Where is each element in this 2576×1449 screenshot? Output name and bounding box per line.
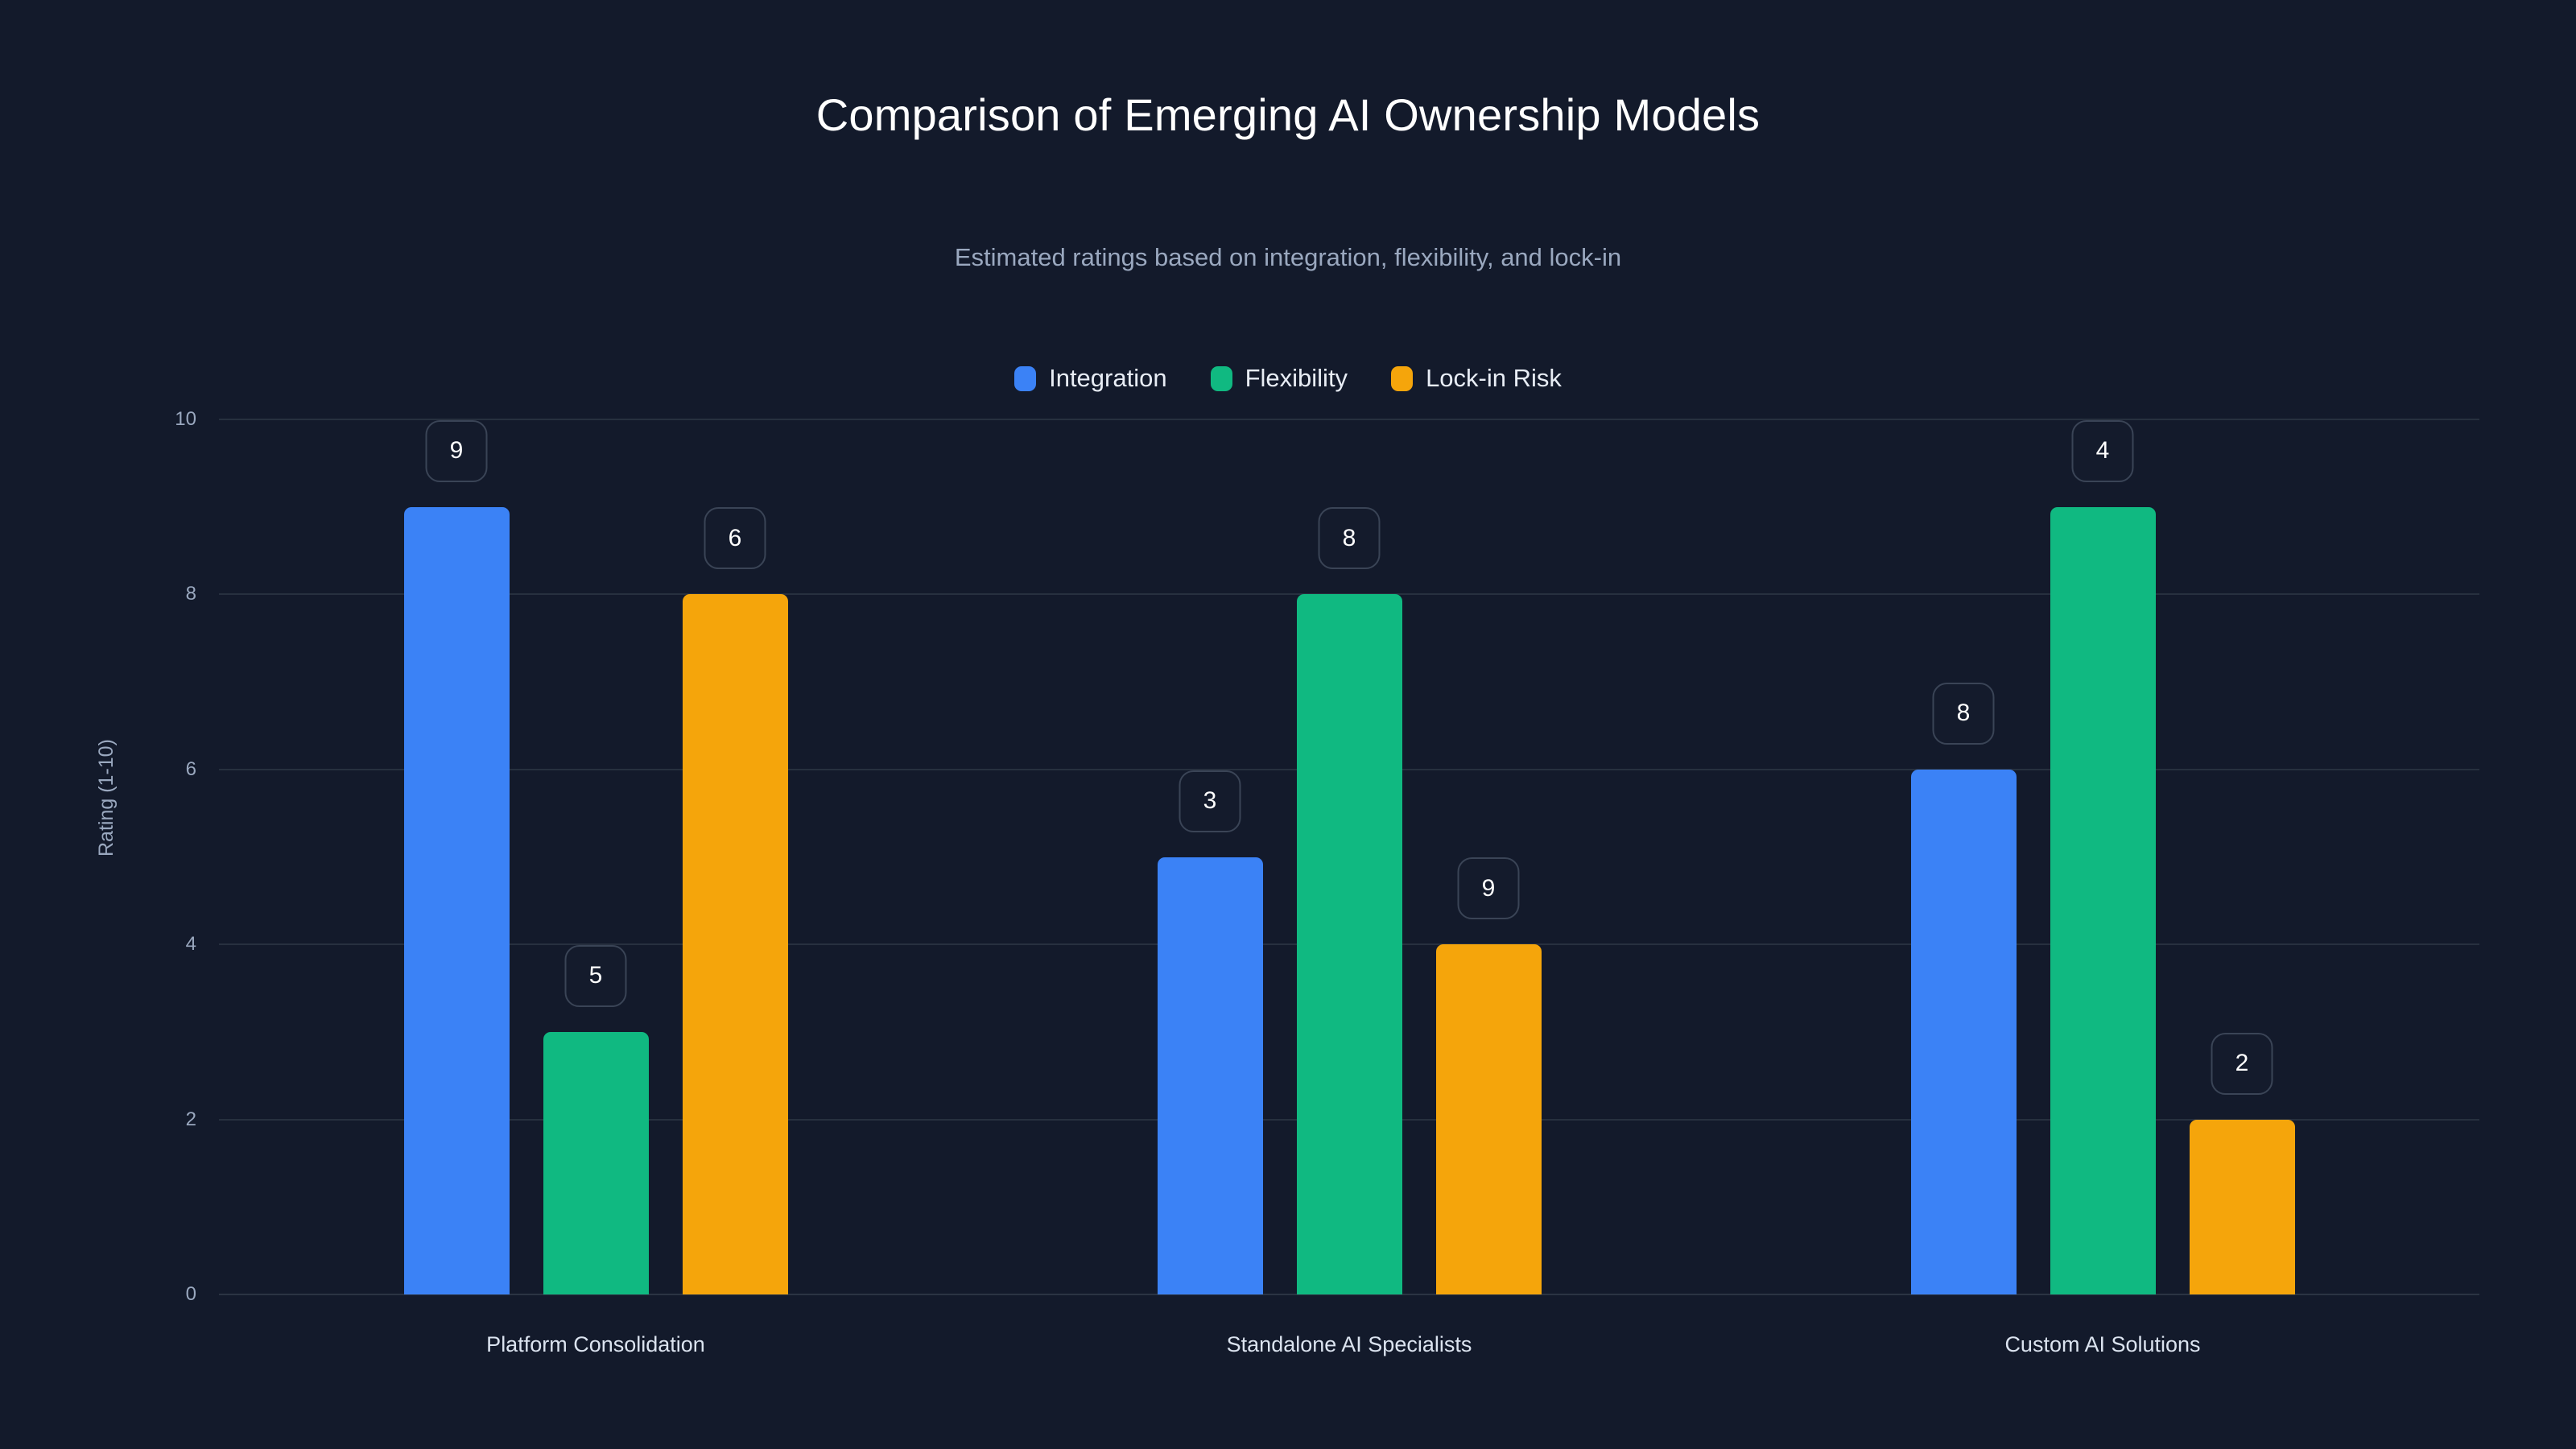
legend-label: Integration	[1049, 364, 1167, 393]
bar-value-badge: 9	[1458, 857, 1520, 919]
x-axis-category-label: Platform Consolidation	[486, 1332, 705, 1357]
bar[interactable]	[1911, 770, 2017, 1294]
bar[interactable]	[1297, 594, 1402, 1294]
legend-swatch-icon	[1211, 366, 1232, 391]
bar-value-badge: 8	[1933, 683, 1995, 745]
bar[interactable]	[2190, 1120, 2295, 1294]
y-axis-tick-label: 2	[124, 1108, 196, 1131]
bar[interactable]	[404, 507, 510, 1294]
legend-label: Lock-in Risk	[1426, 364, 1562, 393]
bar[interactable]	[1436, 944, 1542, 1294]
plot-area: 0246810956389842	[219, 419, 2479, 1294]
bar-value-badge: 8	[1319, 507, 1381, 569]
legend-swatch-icon	[1391, 366, 1413, 391]
bar[interactable]	[543, 1032, 649, 1294]
bar[interactable]	[2050, 507, 2156, 1294]
bar[interactable]	[1158, 857, 1263, 1295]
bar-value-badge: 4	[2072, 420, 2134, 482]
bar-value-badge: 3	[1179, 770, 1241, 832]
chart-subtitle: Estimated ratings based on integration, …	[0, 243, 2576, 272]
bar-value-badge: 5	[565, 945, 627, 1007]
y-axis-tick-label: 8	[124, 583, 196, 605]
legend-item[interactable]: Lock-in Risk	[1391, 364, 1562, 393]
legend-item[interactable]: Integration	[1014, 364, 1167, 393]
chart-legend: IntegrationFlexibilityLock-in Risk	[0, 364, 2576, 393]
legend-item[interactable]: Flexibility	[1211, 364, 1348, 393]
chart-title: Comparison of Emerging AI Ownership Mode…	[0, 89, 2576, 141]
bar-value-badge: 2	[2211, 1033, 2273, 1095]
legend-label: Flexibility	[1245, 364, 1348, 393]
gridline	[219, 419, 2479, 420]
legend-swatch-icon	[1014, 366, 1036, 391]
x-axis-category-label: Custom AI Solutions	[2004, 1332, 2200, 1357]
y-axis-tick-label: 4	[124, 933, 196, 956]
y-axis-tick-label: 6	[124, 758, 196, 781]
bar-value-badge: 9	[426, 420, 488, 482]
y-axis-tick-label: 10	[124, 408, 196, 431]
y-axis-tick-label: 0	[124, 1283, 196, 1306]
x-axis-category-label: Standalone AI Specialists	[1227, 1332, 1472, 1357]
bar-chart: Comparison of Emerging AI Ownership Mode…	[0, 0, 2576, 1449]
y-axis-label: Rating (1-10)	[95, 739, 118, 857]
bar[interactable]	[683, 594, 788, 1294]
bar-value-badge: 6	[704, 507, 766, 569]
